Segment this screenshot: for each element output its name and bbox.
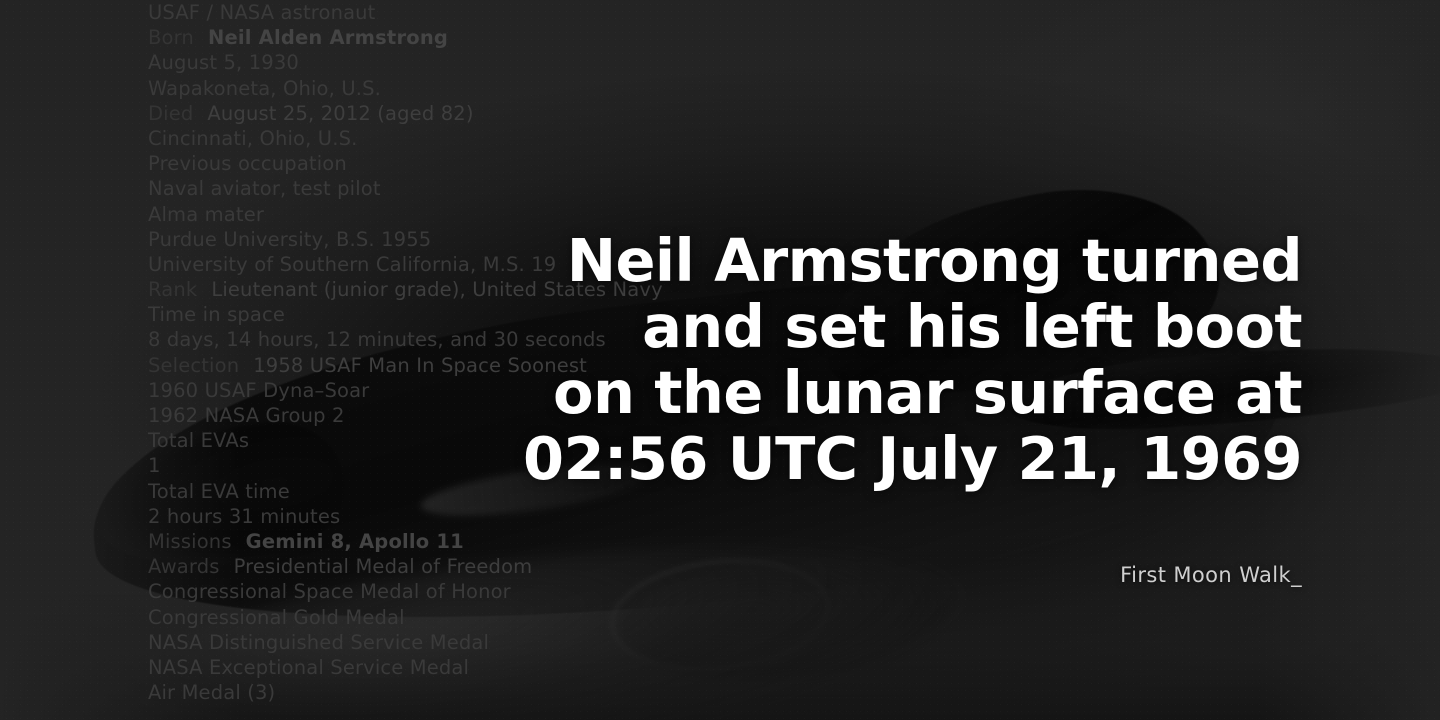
headline-line: Neil Armstrong turned bbox=[522, 228, 1302, 294]
slide-caption: First Moon Walk_ bbox=[1120, 561, 1302, 589]
headline-line: 02:56 UTC July 21, 1969 bbox=[522, 426, 1302, 492]
headline-line: and set his left boot bbox=[522, 294, 1302, 360]
main-headline: Neil Armstrong turnedand set his left bo… bbox=[522, 228, 1302, 492]
left-fade-gradient bbox=[0, 0, 240, 720]
slide-canvas: USAF / NASA astronautBornNeil Alden Arms… bbox=[0, 0, 1440, 720]
headline-line: on the lunar surface at bbox=[522, 360, 1302, 426]
